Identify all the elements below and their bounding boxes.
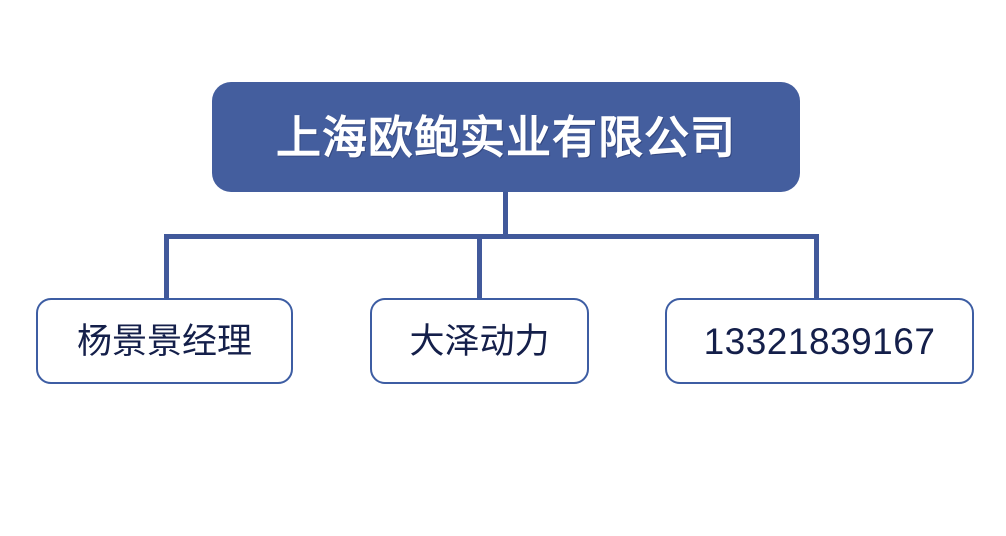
org-node-brand[interactable]: 大泽动力	[370, 298, 589, 384]
org-node-phone-number-label: 13321839167	[704, 323, 936, 360]
org-node-contact-person[interactable]: 杨景景经理	[36, 298, 293, 384]
org-node-root-label: 上海欧鲍实业有限公司	[276, 115, 736, 160]
connector-horizontal-bus	[164, 234, 819, 239]
connector-drop-child-2	[814, 234, 819, 300]
org-node-contact-person-label: 杨景景经理	[77, 324, 252, 359]
connector-drop-child-1	[477, 234, 482, 300]
org-node-phone-number[interactable]: 13321839167	[665, 298, 974, 384]
connector-root-stem	[503, 190, 508, 238]
connector-drop-child-0	[164, 234, 169, 300]
org-chart-canvas: 上海欧鲍实业有限公司 杨景景经理 大泽动力 13321839167	[0, 0, 1006, 536]
org-node-root[interactable]: 上海欧鲍实业有限公司	[212, 82, 800, 192]
org-node-brand-label: 大泽动力	[409, 324, 549, 359]
